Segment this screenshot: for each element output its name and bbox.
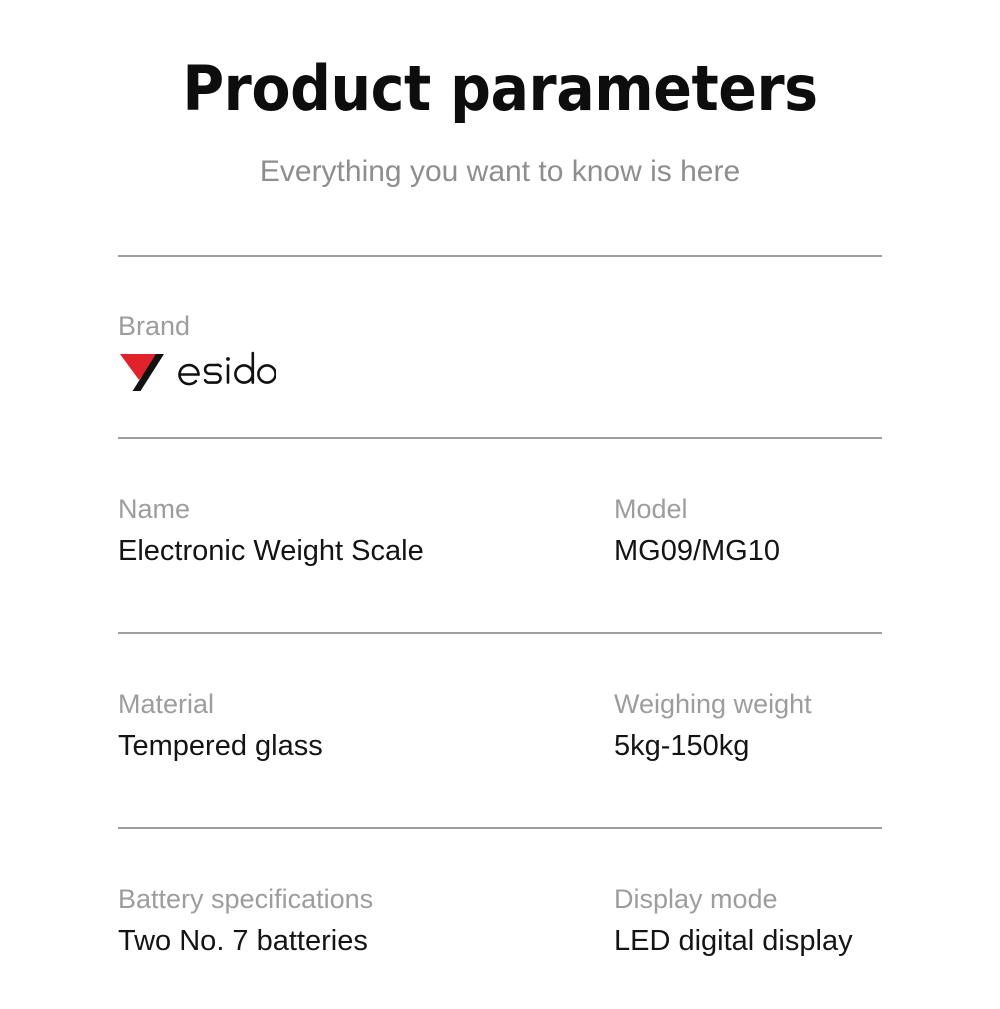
spec-value-name: Electronic Weight Scale xyxy=(118,531,614,571)
spec-cell-battery-specifications: Battery specifications Two No. 7 batteri… xyxy=(118,880,614,961)
spec-label-material: Material xyxy=(118,685,614,723)
spec-row: Battery specifications Two No. 7 batteri… xyxy=(118,829,882,1009)
spec-value-battery-specifications: Two No. 7 batteries xyxy=(118,921,614,961)
letter-i-dot xyxy=(226,357,230,361)
spec-label-battery-specifications: Battery specifications xyxy=(118,880,614,918)
spec-cell-name: Name Electronic Weight Scale xyxy=(118,490,614,571)
yesido-logo xyxy=(118,349,276,391)
letter-o xyxy=(258,365,275,382)
spec-value-weighing-weight: 5kg-150kg xyxy=(614,726,882,766)
spec-row: Name Electronic Weight Scale Model MG09/… xyxy=(118,439,882,632)
spec-value-material: Tempered glass xyxy=(118,726,614,766)
spec-value-model: MG09/MG10 xyxy=(614,531,882,571)
spec-cell-weighing-weight: Weighing weight 5kg-150kg xyxy=(614,685,882,766)
spec-cell-model: Model MG09/MG10 xyxy=(614,490,882,571)
product-parameters-page: Product parameters Everything you want t… xyxy=(0,0,1000,1000)
spec-label-weighing-weight: Weighing weight xyxy=(614,685,882,723)
letter-s xyxy=(205,365,220,383)
page-title: Product parameters xyxy=(40,50,960,128)
spec-label-display-mode: Display mode xyxy=(614,880,882,918)
spec-label-brand: Brand xyxy=(118,307,614,345)
spec-cell-display-mode: Display mode LED digital display xyxy=(614,880,882,961)
spec-row-brand: Brand xyxy=(118,257,882,437)
spec-label-name: Name xyxy=(118,490,614,528)
letter-d-bowl xyxy=(235,365,252,382)
spec-cell-brand: Brand xyxy=(118,307,614,391)
spec-value-display-mode: LED digital display xyxy=(614,921,882,961)
page-subtitle: Everything you want to know is here xyxy=(0,150,1000,194)
spec-row: Material Tempered glass Weighing weight … xyxy=(118,634,882,827)
spec-cell-material: Material Tempered glass xyxy=(118,685,614,766)
letter-e xyxy=(180,365,199,384)
spec-table: Brand xyxy=(118,255,882,1009)
spec-label-model: Model xyxy=(614,490,882,528)
